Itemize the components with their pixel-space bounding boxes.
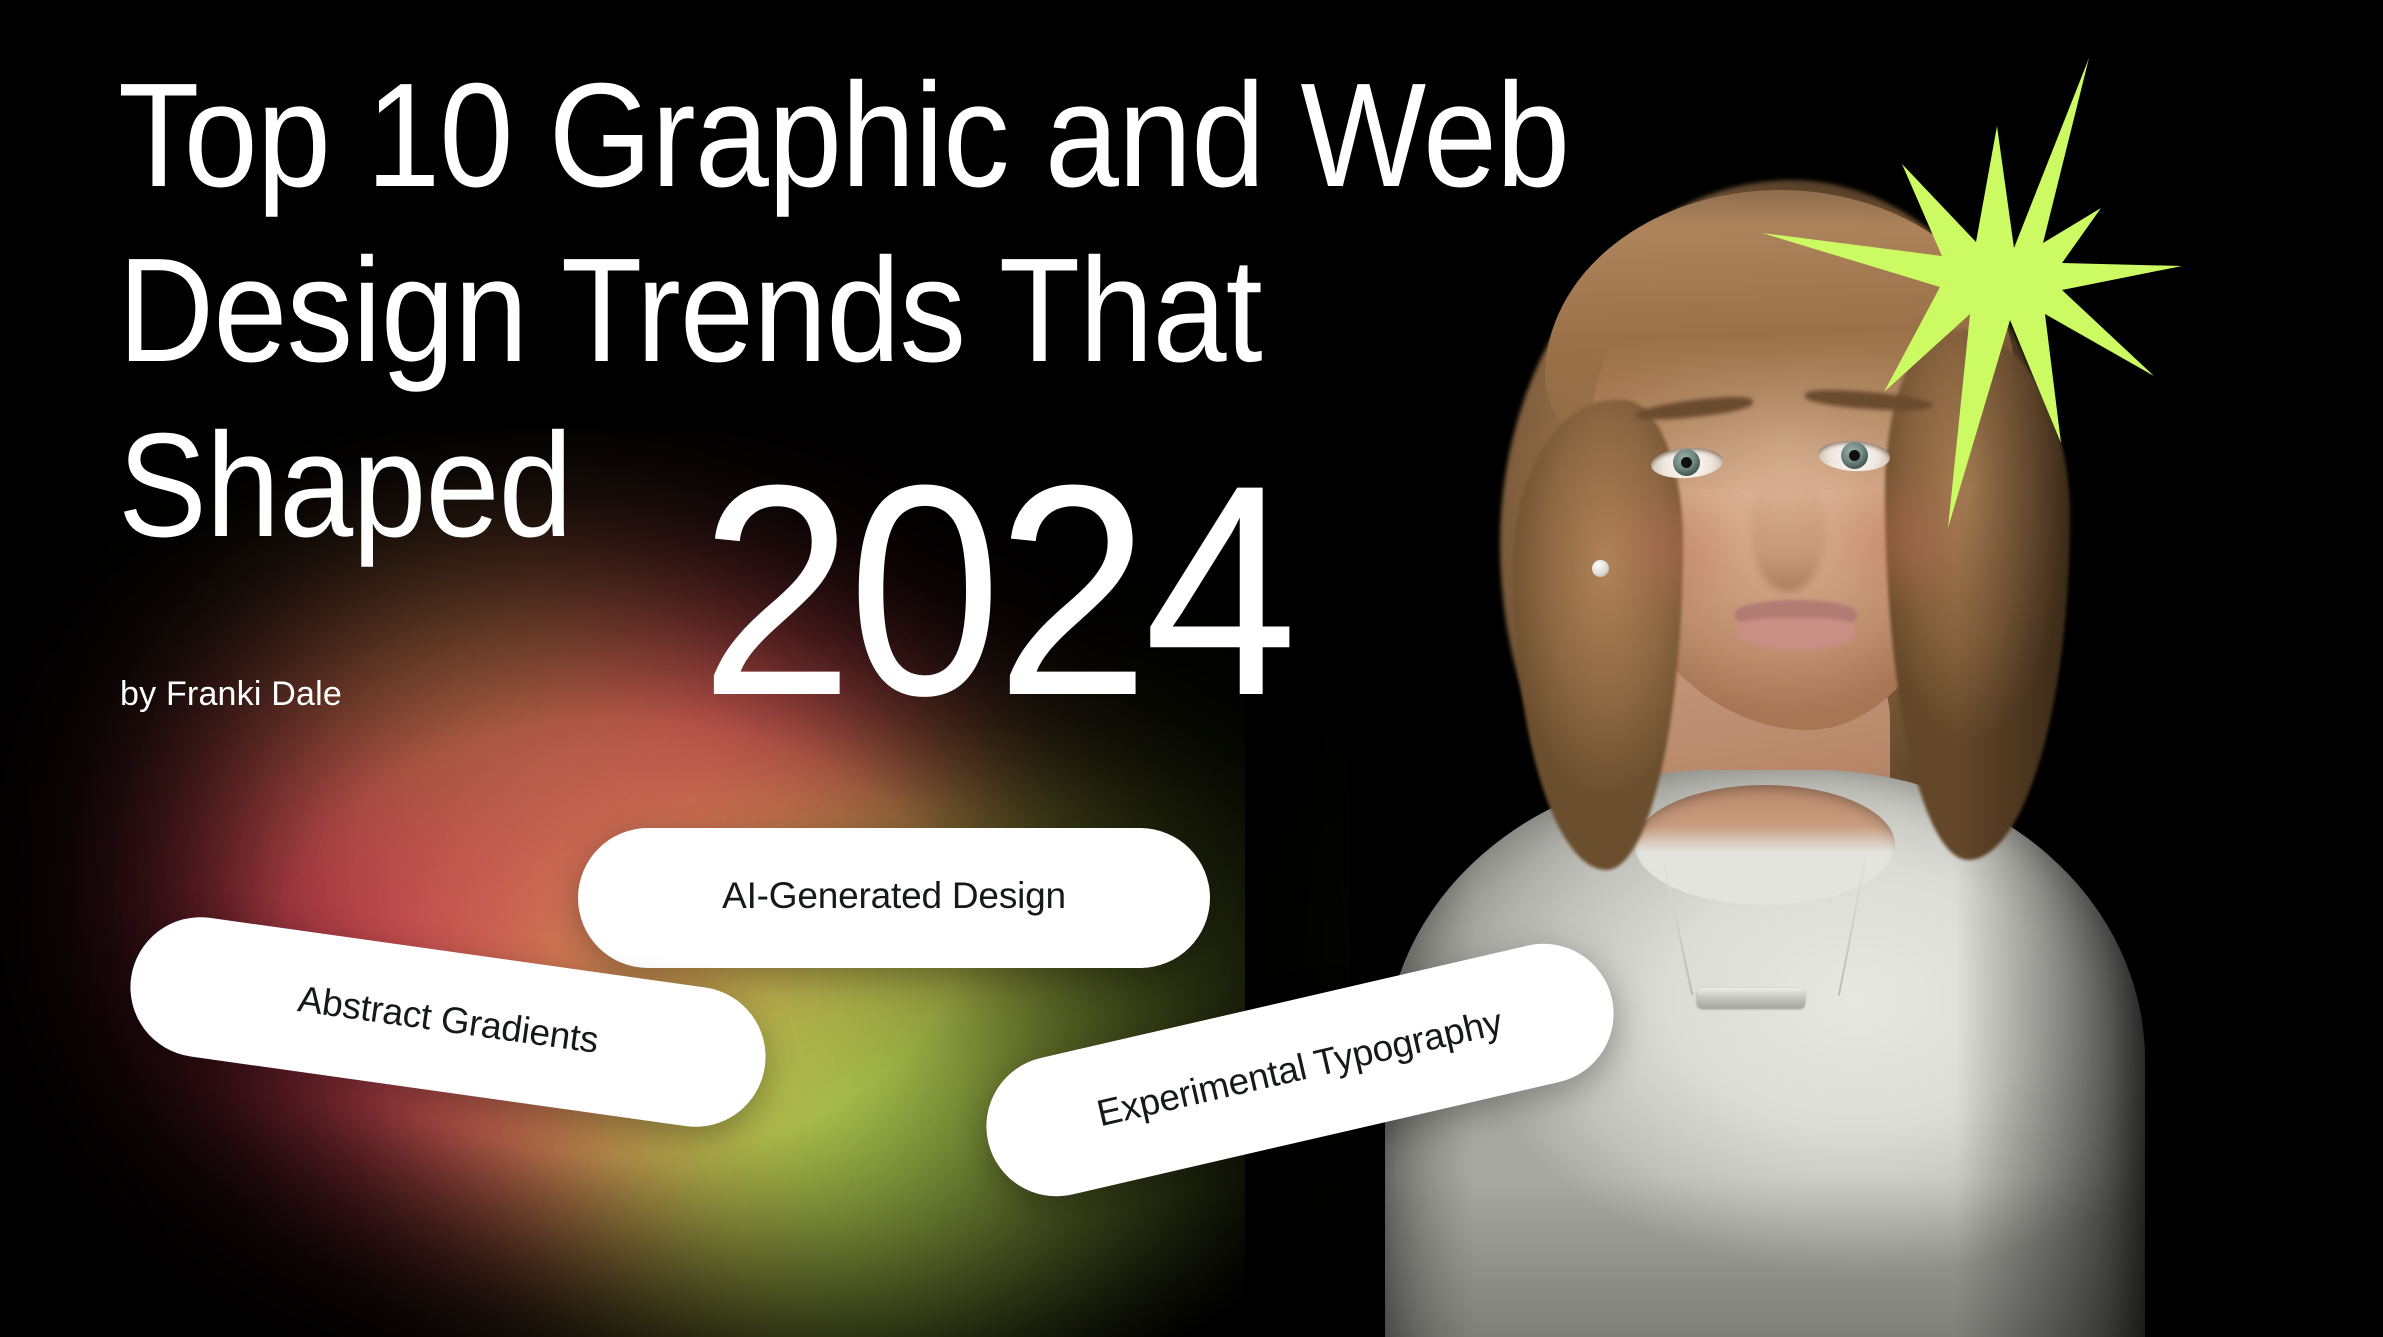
trend-pill-label: Abstract Gradients — [295, 978, 601, 1062]
sparkle-star-icon — [1762, 58, 2182, 528]
lower-lip — [1737, 618, 1855, 650]
pupil-left — [1681, 457, 1692, 468]
earring — [1592, 560, 1609, 577]
gradient-blob-amber — [250, 490, 670, 820]
trend-pill-ai-generated-design[interactable]: AI-Generated Design — [578, 828, 1210, 968]
year-display: 2024 — [700, 440, 1292, 740]
trend-pill-label: AI-Generated Design — [722, 875, 1066, 917]
byline: by Franki Dale — [120, 674, 342, 714]
shirt-collar — [1635, 785, 1895, 905]
necklace-bar-pendant — [1697, 988, 1805, 1008]
cheek-left — [1613, 505, 1733, 591]
cover-canvas: Top 10 Graphic and Web Design Trends Tha… — [0, 0, 2383, 1337]
